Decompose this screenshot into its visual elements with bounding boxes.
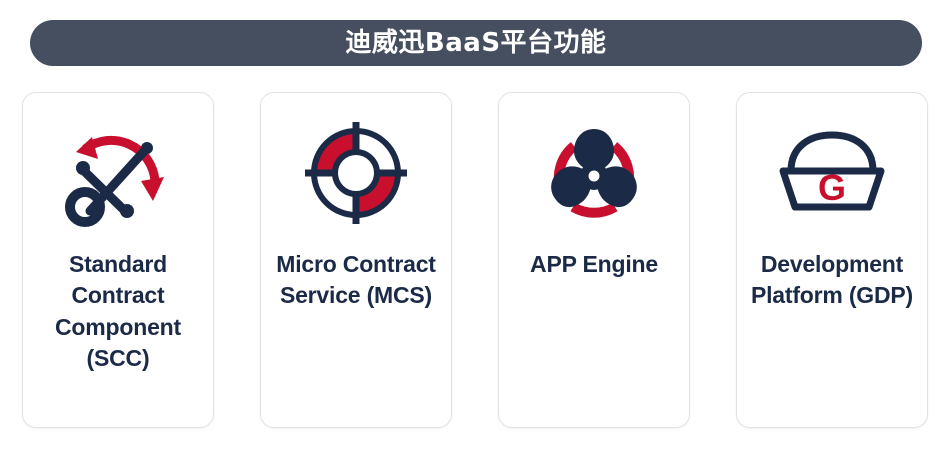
- header-banner: 迪威迅BaaS平台功能: [30, 20, 922, 66]
- feature-card-app-engine[interactable]: APP Engine: [498, 92, 690, 428]
- feature-card-label: Micro Contract Service (MCS): [267, 249, 445, 312]
- feature-card-list: Standard Contract Component (SCC): [22, 92, 928, 428]
- feature-card-label: Standard Contract Component (SCC): [29, 249, 207, 374]
- feature-card-label: Development Platform (GDP): [743, 249, 921, 312]
- feature-card-scc[interactable]: Standard Contract Component (SCC): [22, 92, 214, 428]
- feature-card-mcs[interactable]: Micro Contract Service (MCS): [260, 92, 452, 428]
- page-title: 迪威迅BaaS平台功能: [345, 30, 606, 56]
- feature-card-label: APP Engine: [505, 249, 683, 280]
- propeller-icon: [534, 117, 654, 229]
- sailor-cap-g-icon: G: [772, 117, 892, 229]
- life-ring-icon: [296, 117, 416, 229]
- cap-letter: G: [818, 167, 846, 208]
- feature-overview-panel: 迪威迅BaaS平台功能: [0, 0, 950, 451]
- anchor-with-arc-icon: [58, 117, 178, 229]
- feature-card-gdp[interactable]: G Development Platform (GDP): [736, 92, 928, 428]
